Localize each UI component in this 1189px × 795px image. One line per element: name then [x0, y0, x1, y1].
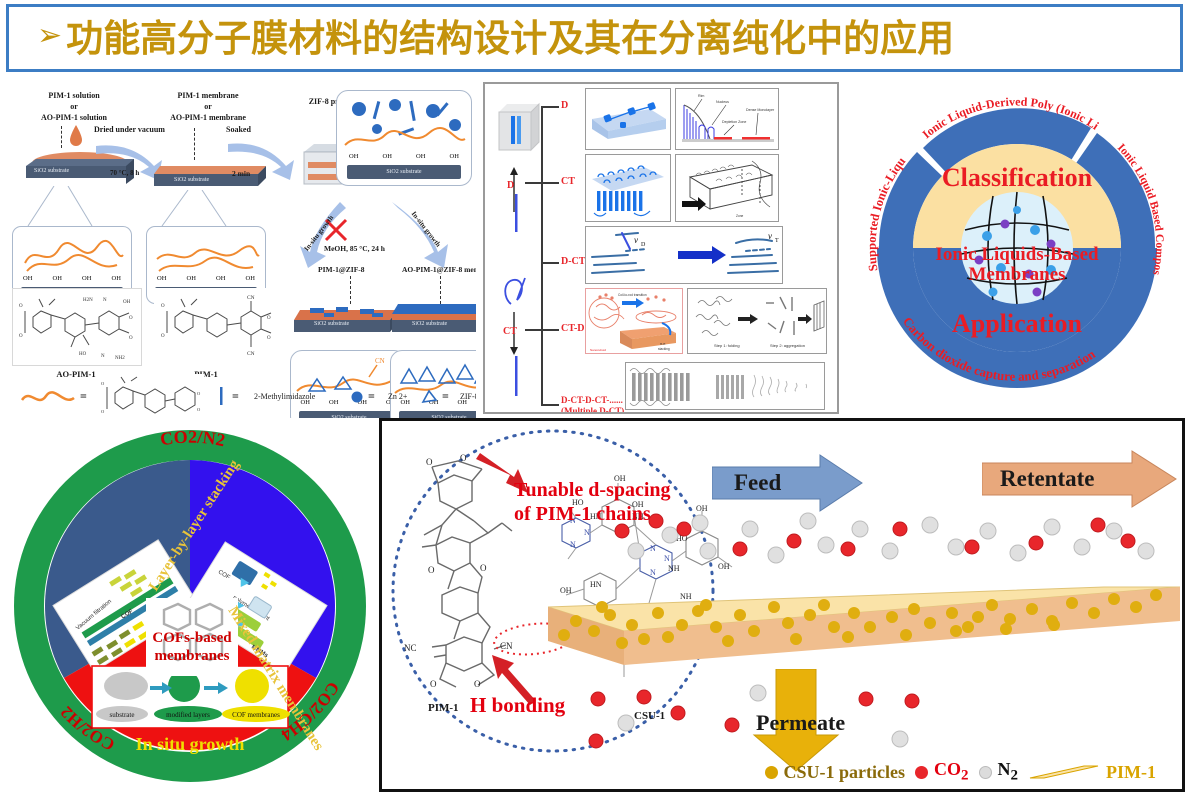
branch-label-dct: D-CT	[561, 256, 585, 267]
drop-guide-2	[194, 128, 195, 160]
tree-branch-ctd	[541, 329, 559, 331]
svg-text:O: O	[129, 316, 133, 321]
legend-label-csu1: CSU-1 particles	[784, 762, 905, 783]
orange-wave-icon	[20, 386, 78, 410]
mechanism-box-ct-left	[585, 154, 671, 222]
arrow-label-soaked: Soaked	[226, 126, 251, 134]
svg-text:v: v	[768, 231, 772, 241]
oh-label: OH	[416, 153, 425, 160]
repeat-unit-icon: O O O O	[99, 375, 203, 418]
svg-text:N: N	[570, 540, 576, 549]
branch-label-d: D	[561, 100, 568, 111]
branch-label-ct: CT	[561, 176, 575, 187]
co2-dot-icon	[915, 766, 928, 779]
oh-label: OH	[53, 275, 62, 282]
svg-text:O: O	[19, 304, 23, 309]
callout-aopim1-zif8-interface: OH OH OH OH SiO2 substrate	[390, 350, 476, 418]
page-title: 功能高分子膜材料的结构设计及其在分离纯化中的应用	[66, 20, 954, 57]
flow-label-permeate: Permeate	[756, 711, 845, 734]
legend-label-pim1: PIM-1	[1106, 762, 1156, 783]
substrate-caption-callout-3: SiO2 substrate	[347, 165, 461, 179]
svg-text:O: O	[460, 453, 467, 463]
legend-item-csu1: CSU-1 particles	[765, 762, 905, 783]
svg-text:substrate: substrate	[110, 711, 135, 719]
arrow-label-dried: Dried under vacuum	[94, 126, 165, 134]
droplet-icon	[68, 123, 84, 147]
polymer-chain-icon-2	[147, 233, 265, 275]
callout-precursor-solution: OH OH OH OH SiO2 substrate	[336, 90, 472, 186]
substrate-caption-1: SiO2 substrate	[34, 168, 69, 174]
oh-label: OH	[383, 153, 392, 160]
aopim1-skeleton-icon: O O H2N N OH HO N NH2 O O	[13, 289, 141, 365]
mechanism-box-ctd-right: Step 1: folding Step 2: aggregation	[687, 288, 827, 354]
svg-text:CN: CN	[247, 295, 255, 301]
svg-text:stacking: stacking	[658, 347, 670, 351]
svg-text:v: v	[634, 235, 638, 245]
svg-text:Zone: Zone	[736, 214, 743, 218]
svg-text:H2N: H2N	[83, 298, 93, 303]
polymer-chain-icon-1	[13, 233, 131, 275]
svg-text:Step 1: folding: Step 1: folding	[714, 343, 740, 348]
legend-molecule-pim1-repeat: O O O O	[98, 374, 204, 418]
arrow-label-temp-1: 70 °C, 8 h	[110, 170, 139, 177]
svg-text:Coil-to-rod transition: Coil-to-rod transition	[618, 293, 647, 297]
mechanism-box-d-right: Rim Nucleus Depletion Zone Dense Monolay…	[675, 88, 779, 150]
legend-label-zif8: ZIF-8	[460, 393, 476, 401]
blue-dot-icon	[350, 390, 364, 404]
svg-text:N: N	[584, 528, 590, 537]
legend-item-n2: N2	[979, 759, 1019, 785]
svg-text:T: T	[775, 238, 779, 244]
svg-text:Nanocuboid: Nanocuboid	[590, 348, 606, 352]
cof-wheel-graphic: Vacuum filtration COF COF polymer solven…	[6, 420, 374, 792]
callout-leader-1	[26, 186, 96, 228]
product-label-aopim1-zif8: AO-PIM-1@ZIF-8 membrane	[402, 266, 476, 274]
folding-aggregation-icon: Step 1: folding Step 2: aggregation	[688, 289, 826, 353]
product-label-pim1-zif8: PIM-1@ZIF-8	[318, 266, 365, 274]
oh-label: OH	[187, 275, 196, 282]
legend-item-co2: CO2	[915, 759, 969, 785]
tree-branch-d	[541, 106, 559, 108]
drop-guide-1	[61, 126, 62, 148]
il-label-center-1: Ionic Liquids-Based	[935, 244, 1099, 265]
molecule-structure-aopim1: O O H2N N OH HO N NH2 O O	[12, 288, 142, 366]
legend-equals-4: =	[442, 390, 449, 403]
zif8-precursor-particles-icon	[337, 95, 471, 153]
substrate-caption-4: SiO2 substrate	[412, 321, 447, 327]
oh-label: OH	[329, 399, 338, 406]
svg-text:Depletion Zone: Depletion Zone	[722, 120, 746, 124]
blue-bar-icon	[216, 386, 226, 406]
substrate-caption-callout-4: SiO2 substrate	[299, 411, 399, 418]
step-label-pim1-membrane: PIM-1 membrane	[177, 92, 238, 100]
legend-label-zinc: Zn 2+	[388, 393, 407, 401]
molecule-structure-pim1: O O CN CN O O	[154, 288, 276, 366]
mechanism-box-multiple-dct	[625, 362, 825, 410]
ct-transfer-icon: Zone	[676, 155, 778, 221]
mechanism-box-dct: v D v T	[585, 226, 783, 284]
cof-center-card: COFs-based membranes	[146, 598, 238, 676]
coil-to-rod-icon: Coil-to-rod transition π-π stacking Nano…	[586, 289, 682, 353]
molecule-label-pim1-panel5: PIM-1	[428, 703, 459, 715]
panel-synthesis-route: PIM-1 solution or AO-PIM-1 solution SiO2…	[6, 78, 476, 418]
svg-text:NC: NC	[404, 643, 417, 653]
il-wheel-graphic: Supported Ionic-Liquid Membranes (SILMs)…	[845, 78, 1189, 418]
mechanism-box-ctd-left: Coil-to-rod transition π-π stacking Nano…	[585, 288, 683, 354]
svg-text:NH2: NH2	[115, 356, 125, 361]
svg-text:O: O	[129, 336, 133, 341]
svg-text:O: O	[101, 409, 105, 414]
svg-text:modified layers: modified layers	[166, 711, 210, 719]
legend-label-co2: CO2	[934, 759, 969, 785]
branch-label-multiple-2: (Multiple D-CT)	[561, 406, 624, 414]
ct-assembly-icon	[586, 155, 670, 221]
n2-dot-icon	[979, 766, 992, 779]
svg-text:O: O	[474, 679, 481, 689]
gas-molecules-feed-side	[612, 507, 1172, 577]
panel-cof-membranes-wheel: Vacuum filtration COF COF polymer solven…	[6, 420, 374, 792]
tree-branch-dct	[541, 262, 559, 264]
step-label-aopim1-solution: AO-PIM-1 solution	[41, 114, 107, 122]
svg-text:CN: CN	[247, 351, 255, 357]
svg-text:O: O	[428, 565, 435, 575]
flow-label-retentate: Retentate	[1000, 467, 1095, 491]
svg-text:OH: OH	[123, 300, 131, 305]
callout-leader-2	[158, 190, 230, 228]
svg-text:O: O	[19, 334, 23, 339]
branch-label-multiple-1: D-CT-D-CT-......	[561, 395, 623, 405]
csu1-particles-in-membrane	[548, 569, 1184, 681]
tree-spine	[541, 106, 543, 406]
step-label-or-2: or	[204, 103, 212, 111]
svg-text:CN: CN	[375, 357, 385, 365]
slide-title-bar: ➢ 功能高分子膜材料的结构设计及其在分离纯化中的应用	[6, 4, 1183, 72]
branch-label-ctd: CT-D	[561, 323, 585, 334]
oh-label: OH	[82, 275, 91, 282]
legend-equals-1: =	[80, 390, 87, 403]
oh-label: OH	[112, 275, 121, 282]
substrate-caption-2: SiO2 substrate	[174, 177, 209, 183]
svg-text:COFs-based: COFs-based	[152, 630, 232, 646]
tree-branch-multi	[541, 404, 559, 406]
flow-label-feed: Feed	[734, 471, 781, 495]
callout-pim1-zif8-interface: CN N OH OH OH OH SiO2 substrate	[290, 350, 406, 418]
pim1-skeleton-icon: O O CN CN O O	[155, 289, 275, 365]
annotation-h-bonding: H bonding	[470, 693, 565, 718]
oh-label: OH	[349, 153, 358, 160]
svg-text:O: O	[430, 679, 437, 689]
svg-text:HO: HO	[79, 352, 87, 357]
legend-label-n2: N2	[998, 759, 1019, 785]
svg-text:π-π: π-π	[660, 342, 666, 346]
tree-inlead-ct	[525, 329, 541, 331]
monomer-bar-icon-2	[513, 356, 519, 398]
legend-label-2methylimidazole: 2-Methylimidazole	[254, 393, 315, 401]
axis-label-ct: CT	[503, 326, 517, 337]
pim-legend-row: CSU-1 particles CO2 N2 PIM-1	[382, 759, 1182, 785]
svg-text:membranes: membranes	[155, 648, 230, 664]
oh-label: OH	[450, 153, 459, 160]
monomer-bar-icon-1	[513, 194, 519, 234]
svg-text:N: N	[103, 298, 107, 303]
lamellar-gradient-icon	[626, 363, 824, 409]
tree-inlead-d	[525, 182, 541, 184]
arrow-label-meoh: MeOH, 85 °C, 24 h	[324, 245, 385, 253]
panel-assembly-mechanism: D CT D CT D-CT CT-D D-CT-D-CT-...... (Mu…	[483, 82, 839, 414]
svg-text:O: O	[480, 563, 487, 573]
blue-triangle-icon	[420, 388, 438, 406]
molecule-label-aopim1: AO-PIM-1	[56, 370, 95, 379]
title-bullet-icon: ➢	[37, 21, 62, 51]
annotation-tunable-dspacing-1: Tunable d-spacing	[514, 479, 671, 502]
step-label-or-1: or	[70, 103, 78, 111]
legend-equals-3: =	[368, 390, 375, 403]
svg-text:O: O	[267, 316, 271, 321]
svg-text:O: O	[267, 336, 271, 341]
legend-item-pim1: PIM-1	[1028, 762, 1156, 783]
oh-label: OH	[216, 275, 225, 282]
oh-label: OH	[157, 275, 166, 282]
il-label-application: Application	[952, 309, 1083, 338]
legend-equals-2: =	[232, 390, 239, 403]
svg-text:COF membranes: COF membranes	[232, 711, 280, 719]
dct-chain-flow-icon: v D v T	[586, 227, 782, 283]
product-slab-aopim1zif8	[392, 300, 476, 340]
arrow-label-2min: 2 min	[232, 170, 250, 178]
il-label-center-2: Membranes	[968, 264, 1065, 285]
svg-text:Step 2: aggregation: Step 2: aggregation	[770, 343, 805, 348]
oh-label: OH	[23, 275, 32, 282]
svg-text:O: O	[197, 391, 201, 396]
svg-text:Dense Monolayer: Dense Monolayer	[746, 108, 775, 112]
product-slab-pim1zif8	[294, 300, 406, 340]
axis-label-d: D	[507, 180, 514, 191]
pim1-slab-icon	[1028, 763, 1100, 781]
svg-text:O: O	[161, 304, 165, 309]
tree-branch-ct	[541, 182, 559, 184]
svg-text:Rim: Rim	[698, 94, 704, 98]
depletion-profile-icon: Rim Nucleus Depletion Zone Dense Monolay…	[676, 89, 778, 149]
ct-loop-icon	[499, 274, 533, 310]
nucleation-surface-icon	[586, 89, 670, 149]
mechanism-box-ct-right: Zone	[675, 154, 779, 222]
substrate-caption-3: SiO2 substrate	[314, 321, 349, 327]
svg-text:O: O	[101, 381, 105, 386]
svg-text:O: O	[197, 407, 201, 412]
oh-label: OH	[246, 275, 255, 282]
il-label-classification: Classification	[942, 163, 1093, 192]
svg-text:N: N	[101, 354, 105, 359]
csu1-dot-icon	[765, 766, 778, 779]
film-block-icon	[493, 98, 545, 160]
panel-pim1-membrane-separation: O O O O NC CN O O PIM-1 OH	[379, 418, 1185, 792]
svg-text:D: D	[641, 242, 646, 248]
svg-text:Nucleus: Nucleus	[716, 100, 729, 104]
cof-label-insitu: In situ growth	[136, 734, 245, 754]
svg-text:O: O	[161, 334, 165, 339]
step-label-aopim1-membrane: AO-PIM-1 membrane	[170, 114, 246, 122]
substrate-caption-callout-5: SiO2 substrate	[399, 411, 476, 418]
mechanism-box-d-left	[585, 88, 671, 150]
svg-text:O: O	[426, 457, 433, 467]
panel-il-membranes-wheel: Supported Ionic-Liquid Membranes (SILMs)…	[845, 78, 1189, 418]
step-label-pim1-solution: PIM-1 solution	[48, 92, 99, 100]
